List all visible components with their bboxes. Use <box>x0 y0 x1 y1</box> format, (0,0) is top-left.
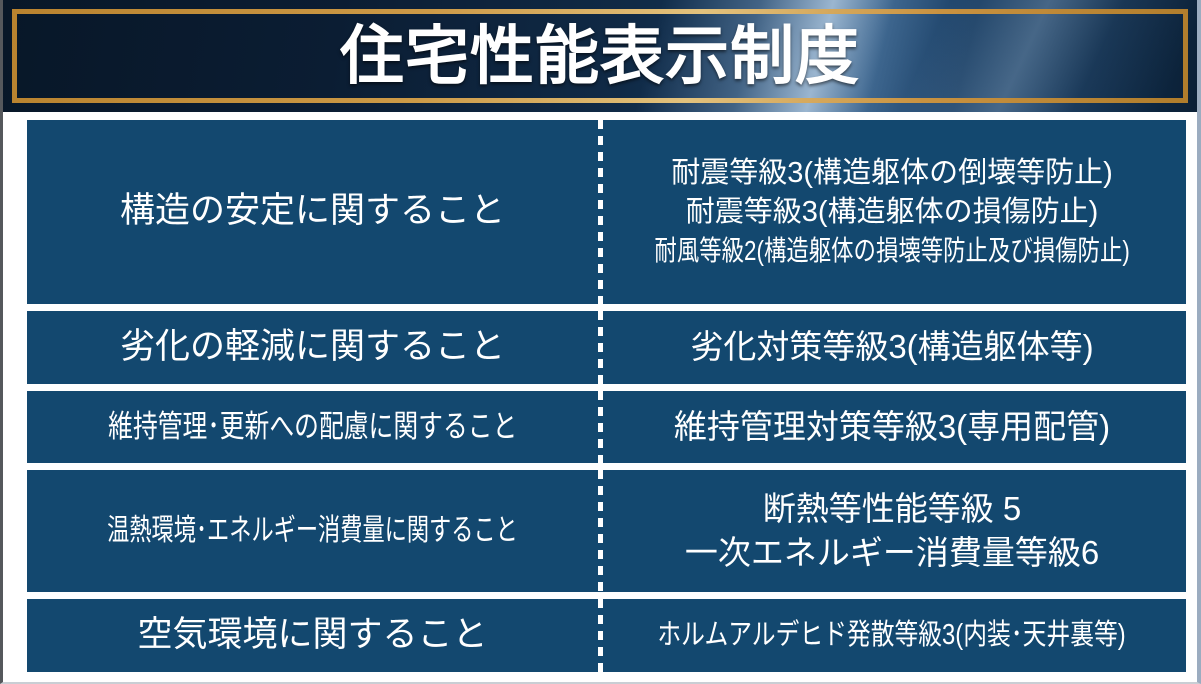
grade-list: 断熱等性能等級 5 一次エネルギー消費量等級6 <box>685 488 1099 574</box>
grade-line: 一次エネルギー消費量等級6 <box>685 532 1099 574</box>
grade-cell: 耐震等級3(構造躯体の倒壊等防止) 耐震等級3(構造躯体の損傷防止) 耐風等級2… <box>598 120 1186 304</box>
grade-line: 耐震等級3(構造躯体の損傷防止) <box>598 194 1186 231</box>
housing-performance-slide: 住宅性能表示制度 構造の安定に関すること 耐震等級3(構造躯体の倒壊等防止) 耐… <box>0 0 1201 684</box>
grade-list: 劣化対策等級3(構造躯体等) <box>690 326 1093 368</box>
category-label: 空気環境に関すること <box>137 613 487 658</box>
table-row: 温熱環境･エネルギー消費量に関すること 断熱等性能等級 5 一次エネルギー消費量… <box>27 470 1186 591</box>
grade-list: 維持管理対策等級3(専用配管) <box>674 406 1110 448</box>
grade-list: 耐震等級3(構造躯体の倒壊等防止) 耐震等級3(構造躯体の損傷防止) 耐風等級2… <box>598 155 1186 269</box>
grade-line: 耐風等級2(構造躯体の損壊等防止及び損傷防止) <box>654 233 1129 269</box>
grade-list: ホルムアルデヒド発散等級3(内装･天井裏等) <box>606 617 1177 654</box>
grade-line: ホルムアルデヒド発散等級3(内装･天井裏等) <box>658 617 1126 654</box>
category-cell: 劣化の軽減に関すること <box>27 311 598 384</box>
category-label: 構造の安定に関すること <box>120 189 505 234</box>
grade-cell: 劣化対策等級3(構造躯体等) <box>598 311 1186 384</box>
category-cell: 構造の安定に関すること <box>27 120 598 304</box>
grade-line: 劣化対策等級3(構造躯体等) <box>690 326 1093 368</box>
table-row: 劣化の軽減に関すること 劣化対策等級3(構造躯体等) <box>27 311 1186 384</box>
grade-cell: ホルムアルデヒド発散等級3(内装･天井裏等) <box>598 599 1186 672</box>
grade-cell: 維持管理対策等級3(専用配管) <box>598 391 1186 463</box>
grade-line: 耐震等級3(構造躯体の倒壊等防止) <box>598 155 1186 192</box>
table-row: 構造の安定に関すること 耐震等級3(構造躯体の倒壊等防止) 耐震等級3(構造躯体… <box>27 120 1186 304</box>
category-cell: 温熱環境･エネルギー消費量に関すること <box>27 470 598 591</box>
title-banner: 住宅性能表示制度 <box>3 0 1197 112</box>
performance-table: 構造の安定に関すること 耐震等級3(構造躯体の倒壊等防止) 耐震等級3(構造躯体… <box>3 112 1193 682</box>
table-row: 維持管理･更新への配慮に関すること 維持管理対策等級3(専用配管) <box>27 391 1186 463</box>
table-row: 空気環境に関すること ホルムアルデヒド発散等級3(内装･天井裏等) <box>27 599 1186 672</box>
page-title: 住宅性能表示制度 <box>3 24 1197 88</box>
category-cell: 空気環境に関すること <box>27 599 598 672</box>
category-label: 維持管理･更新への配慮に関すること <box>108 407 517 447</box>
category-label: 温熱環境･エネルギー消費量に関すること <box>107 512 518 550</box>
category-label: 劣化の軽減に関すること <box>120 325 505 370</box>
grade-line: 断熱等性能等級 5 <box>685 488 1099 530</box>
grade-cell: 断熱等性能等級 5 一次エネルギー消費量等級6 <box>598 470 1186 591</box>
category-cell: 維持管理･更新への配慮に関すること <box>27 391 598 463</box>
grade-line: 維持管理対策等級3(専用配管) <box>674 406 1110 448</box>
